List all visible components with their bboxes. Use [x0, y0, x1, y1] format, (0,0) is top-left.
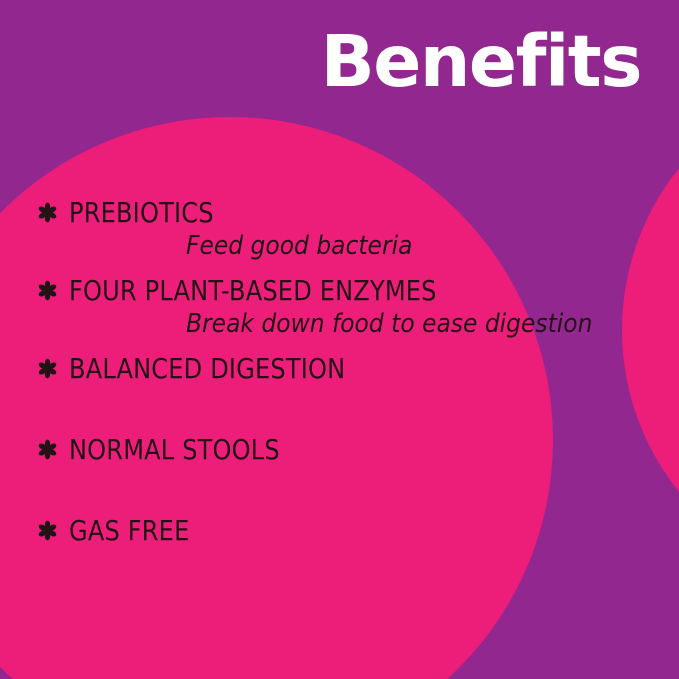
- list-item-main: PREBIOTICS: [36, 196, 646, 229]
- list-item-label: FOUR PLANT-BASED ENZYMES: [69, 274, 437, 307]
- flower-asterisk-icon: [36, 434, 58, 464]
- list-item: BALANCED DIGESTION: [36, 352, 646, 385]
- page-title: Benefits: [321, 26, 641, 97]
- list-item-main: BALANCED DIGESTION: [36, 352, 646, 385]
- list-item-label: BALANCED DIGESTION: [69, 352, 345, 385]
- list-item-main: FOUR PLANT-BASED ENZYMES: [36, 274, 646, 307]
- list-item: GAS FREE: [36, 514, 646, 547]
- flower-asterisk-icon: [36, 197, 58, 227]
- flower-asterisk-icon: [36, 515, 58, 545]
- list-item-main: NORMAL STOOLS: [36, 433, 646, 466]
- benefits-panel: Benefits: [0, 0, 679, 679]
- list-item: FOUR PLANT-BASED ENZYMES Break down food…: [36, 274, 646, 340]
- list-item-label: PREBIOTICS: [69, 196, 214, 229]
- list-item: NORMAL STOOLS: [36, 433, 646, 466]
- benefits-list: PREBIOTICS Feed good bacteria: [36, 196, 646, 549]
- list-item-main: GAS FREE: [36, 514, 646, 547]
- list-item: PREBIOTICS Feed good bacteria: [36, 196, 646, 262]
- list-item-subtitle: Feed good bacteria: [186, 230, 600, 262]
- flower-asterisk-icon: [36, 275, 58, 305]
- flower-asterisk-icon: [36, 353, 58, 383]
- list-item-subtitle: Break down food to ease digestion: [186, 308, 600, 340]
- list-item-label: NORMAL STOOLS: [69, 433, 280, 466]
- list-item-label: GAS FREE: [69, 514, 189, 547]
